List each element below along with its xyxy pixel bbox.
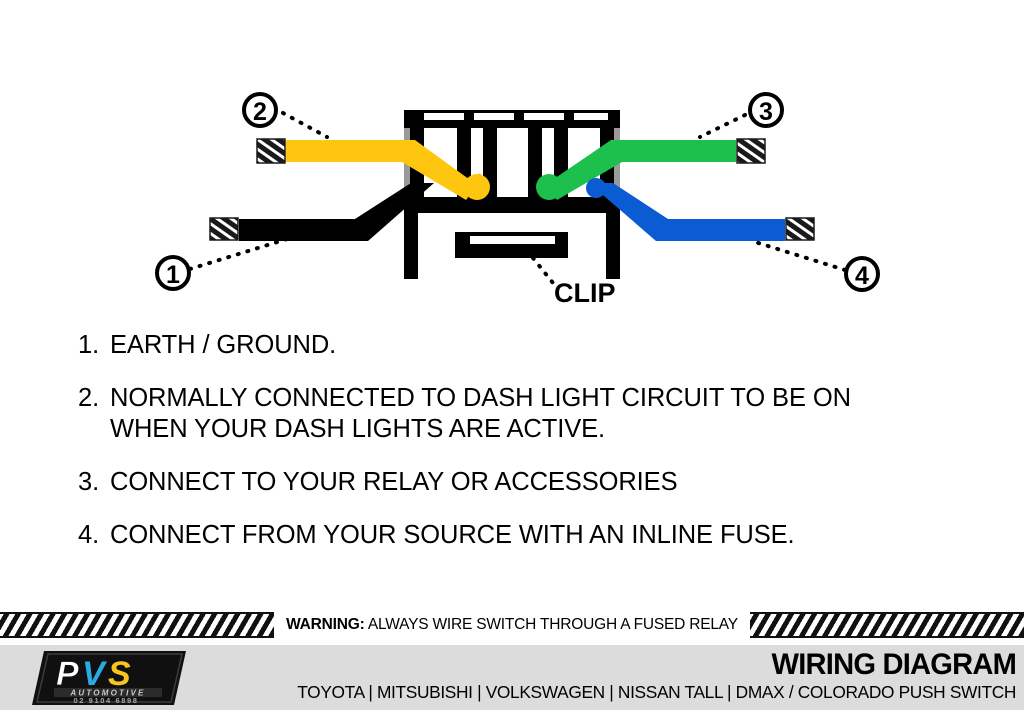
instruction-number: 3. [78, 467, 110, 498]
leader-line-4 [752, 241, 845, 270]
logo-letter-p: P [56, 655, 79, 693]
leader-line-1 [190, 239, 287, 269]
callout-number-4: 4 [855, 262, 869, 290]
leader-line-3 [700, 115, 745, 137]
list-item: 2. NORMALLY CONNECTED TO DASH LIGHT CIRC… [78, 383, 958, 445]
hazard-stripe-left [0, 612, 274, 638]
footer-title-block: WIRING DIAGRAM TOYOTA | MITSUBISHI | VOL… [290, 650, 1016, 702]
wire-black-1 [210, 183, 434, 241]
wire-blue-4 [586, 178, 814, 241]
switch-clip-slot [470, 236, 555, 244]
callout-number-3: 3 [759, 98, 773, 126]
wire-green-3 [536, 139, 765, 200]
callout-number-1: 1 [166, 261, 180, 289]
switch-clip-block [455, 232, 568, 258]
logo-letter-v: V [82, 655, 108, 693]
pvs-automotive-logo[interactable]: P V S AUTOMOTIVE 02 9104 6898 [28, 649, 188, 707]
terminal-black [210, 218, 238, 240]
instruction-number: 2. [78, 383, 110, 414]
logo-letter-s: S [108, 655, 131, 693]
terminal-yellow [257, 139, 285, 163]
wiring-diagram-illustration: 1 2 3 4 CLIP [0, 0, 1024, 320]
page-title: WIRING DIAGRAM [312, 650, 1016, 681]
instruction-text: NORMALLY CONNECTED TO DASH LIGHT CIRCUIT… [110, 383, 958, 445]
warning-message: ALWAYS WIRE SWITCH THROUGH A FUSED RELAY [365, 616, 738, 633]
switch-leg-left [404, 213, 418, 279]
instruction-number: 4. [78, 520, 110, 551]
switch-body [404, 110, 620, 279]
switch-top-slot [474, 113, 514, 120]
instruction-list: 1. EARTH / GROUND. 2. NORMALLY CONNECTED… [78, 330, 958, 574]
callout-4[interactable]: 4 [846, 258, 878, 290]
callout-1[interactable]: 1 [157, 257, 189, 289]
footer: P V S AUTOMOTIVE 02 9104 6898 WIRING DIA… [0, 645, 1024, 710]
switch-top-slot [574, 113, 608, 120]
list-item: 1. EARTH / GROUND. [78, 330, 958, 361]
switch-leg-right [606, 213, 620, 279]
instruction-text: CONNECT TO YOUR RELAY OR ACCESSORIES [110, 467, 958, 498]
clip-label: CLIP [554, 278, 616, 308]
instruction-text: CONNECT FROM YOUR SOURCE WITH AN INLINE … [110, 520, 958, 551]
callout-3[interactable]: 3 [750, 94, 782, 126]
leader-line-2 [283, 113, 327, 137]
callout-2[interactable]: 2 [244, 94, 276, 126]
wire-yellow-2 [257, 139, 490, 200]
leader-line-clip [533, 258, 553, 283]
instruction-number: 1. [78, 330, 110, 361]
wire-yellow-end-cap [464, 174, 490, 200]
wire-yellow-path [286, 140, 477, 200]
warning-bar: WARNING: ALWAYS WIRE SWITCH THROUGH A FU… [0, 608, 1024, 641]
hazard-stripe-right [750, 612, 1024, 638]
instruction-text: EARTH / GROUND. [110, 330, 958, 361]
terminal-green [737, 139, 765, 163]
warning-text: WARNING: ALWAYS WIRE SWITCH THROUGH A FU… [274, 616, 750, 634]
callout-number-2: 2 [253, 98, 267, 126]
logo-phone: 02 9104 6898 [73, 696, 138, 705]
warning-label: WARNING: [286, 616, 364, 633]
list-item: 4. CONNECT FROM YOUR SOURCE WITH AN INLI… [78, 520, 958, 551]
page-subtitle: TOYOTA | MITSUBISHI | VOLKSWAGEN | NISSA… [297, 683, 1016, 702]
switch-top-slot [524, 113, 564, 120]
wire-green-end-cap [536, 174, 562, 200]
switch-lower-rail [404, 197, 620, 213]
wire-blue-end-cap [586, 178, 606, 198]
list-item: 3. CONNECT TO YOUR RELAY OR ACCESSORIES [78, 467, 958, 498]
terminal-blue [786, 218, 814, 240]
switch-top-slot [424, 113, 464, 120]
wire-green-path [545, 140, 736, 200]
